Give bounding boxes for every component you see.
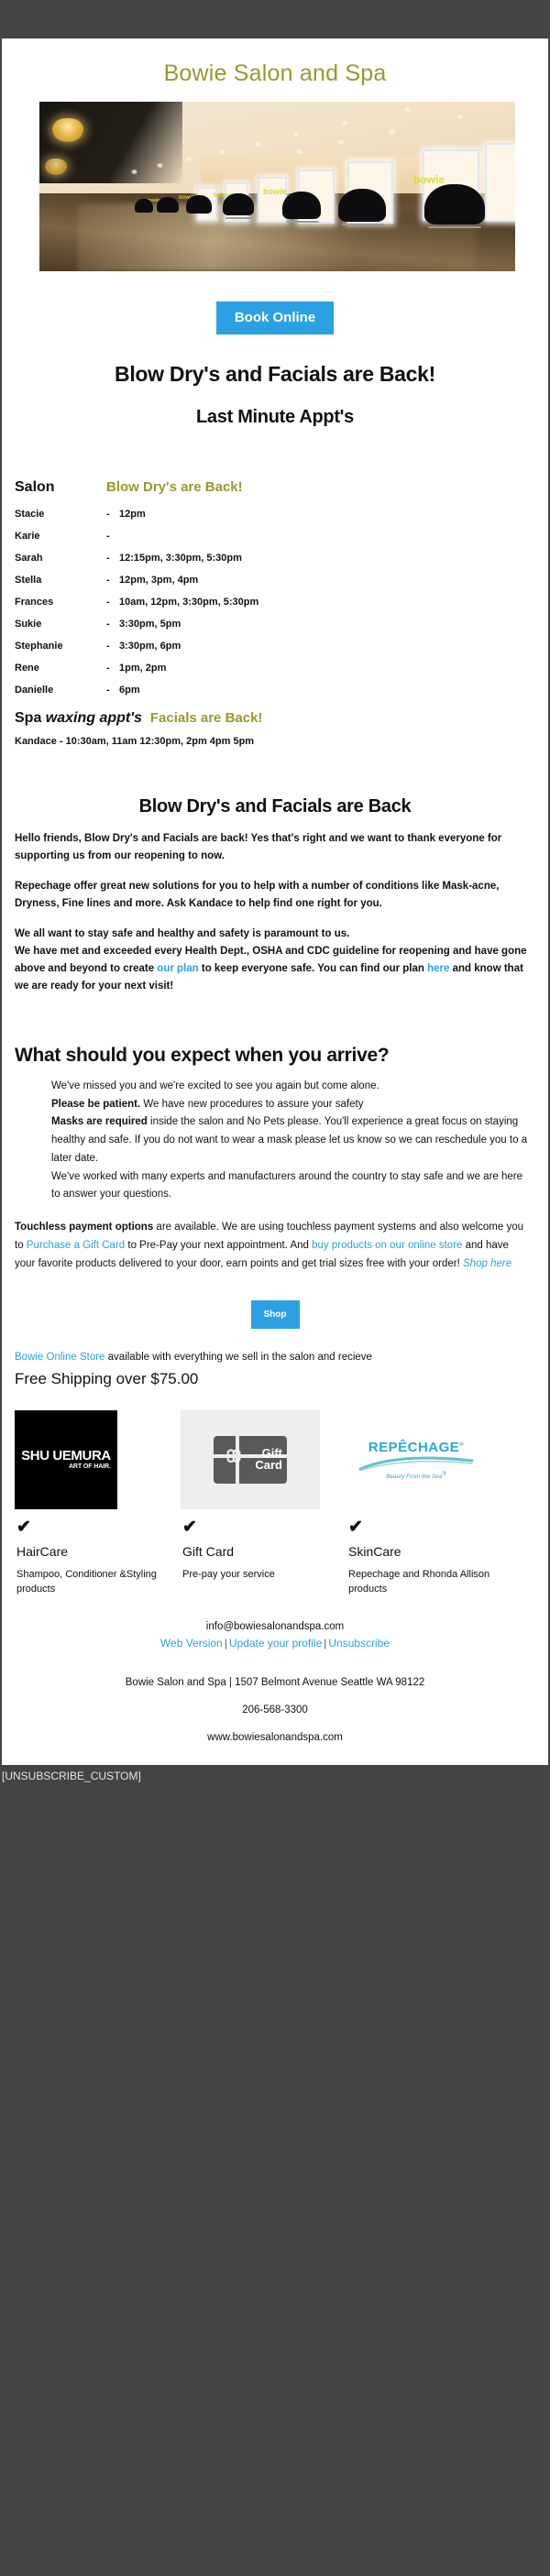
business-address: Bowie Salon and Spa | 1507 Belmont Avenu… <box>11 1650 539 1688</box>
table-row: Stephanie - 3:30pm, 6pm <box>15 641 548 663</box>
page-title: Bowie Salon and Spa <box>2 38 548 102</box>
stylist-name: Stephanie <box>15 641 106 652</box>
row-dash: - <box>106 663 119 674</box>
column-skincare: REPÊCHAGE® Beauty From the Sea® ✔ SkinCa… <box>346 1410 512 1597</box>
ceiling-light <box>296 149 302 154</box>
heading-blow-dry-facials: Blow Dry's and Facials are Back! <box>2 334 548 387</box>
appointments-header-row: Salon Blow Dry's are Back! <box>15 479 548 509</box>
facials-highlight: Facials are Back! <box>150 710 263 726</box>
row-dash: - <box>106 685 119 696</box>
stylist-name: Stacie <box>15 509 106 520</box>
column-title: HairCare <box>15 1536 181 1559</box>
blow-dry-highlight: Blow Dry's are Back! <box>106 479 243 495</box>
salon-chair <box>186 195 212 214</box>
touchless-payment-paragraph: Touchless payment options are available.… <box>2 1204 548 1273</box>
stylist-name: Danielle <box>15 685 106 696</box>
wave-icon <box>358 1456 474 1471</box>
row-dash: - <box>106 509 119 520</box>
table-row: Sukie - 3:30pm, 5pm <box>15 619 548 641</box>
table-row: Rene - 1pm, 2pm <box>15 663 548 685</box>
our-plan-link[interactable]: our plan <box>157 963 198 974</box>
web-version-link[interactable]: Web Version <box>160 1637 223 1650</box>
registered-mark: ® <box>443 1472 446 1477</box>
paragraph-hello: Hello friends, Blow Dry's and Facials ar… <box>15 830 532 865</box>
gift-card-icon: Gift Card <box>181 1410 320 1509</box>
table-row: Frances - 10am, 12pm, 3:30pm, 5:30pm <box>15 597 548 619</box>
email-sheet: Bowie Salon and Spa <box>2 38 548 1765</box>
repechage-wordmark: REPÊCHAGE <box>368 1440 460 1455</box>
column-haircare: SHU UEMURA ART OF HAIR. ✔ HairCare Shamp… <box>15 1410 181 1597</box>
heading-what-to-expect: What should you expect when you arrive? <box>2 1008 548 1067</box>
ceiling-light <box>186 157 192 161</box>
safety-line-3: to keep everyone safe. You can find our … <box>199 963 427 974</box>
free-shipping-text: Free Shipping over $75.00 <box>2 1366 548 1390</box>
chair-base <box>286 221 319 223</box>
footer-links: Web Version|Update your profile|Unsubscr… <box>11 1632 539 1650</box>
ceiling-light <box>389 129 395 134</box>
stylist-times: 6pm <box>119 685 140 696</box>
email-footer: info@bowiesalonandspa.com Web Version|Up… <box>2 1597 548 1765</box>
business-phone: 206-568-3300 <box>11 1688 539 1716</box>
salon-label: Salon <box>15 479 106 496</box>
arrival-instructions: We've missed you and we're excited to se… <box>2 1067 548 1204</box>
touchless-bold: Touchless payment options <box>15 1222 153 1233</box>
shu-uemura-logo: SHU UEMURA ART OF HAIR. <box>15 1410 117 1509</box>
stylist-times: 12pm, 3pm, 4pm <box>119 575 198 586</box>
row-dash: - <box>106 575 119 586</box>
salon-chair <box>282 192 321 219</box>
row-dash: - <box>106 597 119 608</box>
heading-blow-dry-facials-2: Blow Dry's and Facials are Back <box>2 747 548 817</box>
here-link[interactable]: here <box>427 963 449 974</box>
book-online-button[interactable]: Book Online <box>216 301 334 334</box>
salon-chair <box>338 189 386 222</box>
chandelier-icon <box>45 159 67 175</box>
row-dash: - <box>106 553 119 564</box>
update-profile-link[interactable]: Update your profile <box>229 1637 322 1650</box>
stylist-name: Stella <box>15 575 106 586</box>
registered-mark: ® <box>459 1442 464 1448</box>
table-row: Stacie - 12pm <box>15 509 548 531</box>
buy-products-link[interactable]: buy products on our online store <box>312 1240 462 1251</box>
masks-required-bold: Masks are required <box>51 1116 148 1127</box>
body-copy-bold: Hello friends, Blow Dry's and Facials ar… <box>2 817 548 995</box>
shop-here-link[interactable]: Shop here <box>463 1258 511 1269</box>
column-description: Pre-pay your service <box>181 1559 346 1583</box>
stylist-name: Rene <box>15 663 106 674</box>
ceiling-light <box>456 115 463 119</box>
gift-card-line1: Gift <box>255 1447 282 1459</box>
ceiling-light <box>157 163 163 168</box>
chair-base <box>428 226 481 228</box>
appointments-table: Salon Blow Dry's are Back! Stacie - 12pm… <box>2 428 548 707</box>
salon-chair <box>223 193 254 215</box>
stylist-times: 12:15pm, 3:30pm, 5:30pm <box>119 553 242 564</box>
ceiling-light <box>219 149 225 154</box>
check-icon: ✔ <box>15 1509 181 1536</box>
check-icon: ✔ <box>181 1509 346 1536</box>
spa-label-italic: waxing appt's <box>46 710 142 726</box>
arrival-line-1: We've missed you and we're excited to se… <box>51 1080 379 1091</box>
ceiling-light <box>404 107 411 112</box>
top-bar <box>0 0 550 38</box>
contact-email: info@bowiesalonandspa.com <box>11 1621 539 1632</box>
arrival-line-2: We have new procedures to assure your sa… <box>140 1099 363 1110</box>
table-row: Stella - 12pm, 3pm, 4pm <box>15 575 548 597</box>
bowie-online-store-link[interactable]: Bowie Online Store <box>15 1352 104 1363</box>
book-online-row: Book Online <box>2 271 548 334</box>
repechage-logo: REPÊCHAGE® Beauty From the Sea® <box>346 1410 486 1509</box>
heading-last-minute-appts: Last Minute Appt's <box>2 387 548 428</box>
stylist-times: 10am, 12pm, 3:30pm, 5:30pm <box>119 597 258 608</box>
column-description: Repechage and Rhonda Allison products <box>346 1559 512 1597</box>
link-separator: | <box>223 1637 229 1650</box>
business-website: www.bowiesalonandspa.com <box>11 1716 539 1765</box>
row-dash: - <box>106 619 119 630</box>
unsubscribe-token: [UNSUBSCRIBE_CUSTOM] <box>0 1765 550 1837</box>
chandelier-icon <box>52 118 83 142</box>
online-store-text: available with everything we sell in the… <box>104 1352 372 1363</box>
shop-button[interactable]: Shop <box>251 1300 300 1329</box>
table-row: Karie - <box>15 531 548 553</box>
repechage-tagline: Beauty From the Sea <box>386 1474 442 1480</box>
chair-base <box>342 224 384 225</box>
stylist-name: Karie <box>15 531 106 542</box>
arrival-line-4: We've worked with many experts and manuf… <box>51 1171 522 1200</box>
ceiling-light <box>131 170 137 174</box>
column-title: Gift Card <box>181 1536 346 1559</box>
salon-chair <box>157 197 179 213</box>
shu-uemura-wordmark: SHU UEMURA <box>21 1449 111 1463</box>
stylist-name: Sukie <box>15 619 106 630</box>
spa-section-heading: Spa waxing appt's Facials are Back! <box>2 707 548 736</box>
gift-card-line2: Card <box>255 1459 282 1471</box>
online-store-line: Bowie Online Store available with everyt… <box>2 1329 548 1365</box>
ceiling-light <box>255 142 261 147</box>
email-page: Bowie Salon and Spa <box>0 0 550 1837</box>
salon-chair <box>135 199 153 213</box>
spa-appointment-row: Kandace - 10:30am, 11am 12:30pm, 2pm 4pm… <box>2 736 548 747</box>
stylist-name: Frances <box>15 597 106 608</box>
stylist-times: 3:30pm, 5pm <box>119 619 181 630</box>
paragraph-safety: We all want to stay safe and healthy and… <box>15 926 532 995</box>
please-be-patient-bold: Please be patient. <box>51 1099 140 1110</box>
stylist-name: Sarah <box>15 553 106 564</box>
stylist-times: 12pm <box>119 509 146 520</box>
safety-line-1: We all want to stay safe and healthy and… <box>15 928 349 939</box>
salon-chair <box>424 184 485 225</box>
unsubscribe-link[interactable]: Unsubscribe <box>328 1637 390 1650</box>
stylist-times: 3:30pm, 6pm <box>119 641 181 652</box>
purchase-gift-card-link[interactable]: Purchase a Gift Card <box>27 1240 125 1251</box>
check-icon: ✔ <box>346 1509 512 1536</box>
bowie-mirror-logo: bowie <box>263 187 287 196</box>
bowie-mirror-logo: bowie <box>413 173 445 186</box>
column-title: SkinCare <box>346 1536 512 1559</box>
table-row: Danielle - 6pm <box>15 685 548 707</box>
row-dash: - <box>106 641 119 652</box>
column-description: Shampoo, Conditioner &Styling products <box>15 1559 181 1597</box>
shu-uemura-tagline: ART OF HAIR. <box>21 1463 111 1470</box>
styling-mirror <box>485 143 515 222</box>
stylist-times: 1pm, 2pm <box>119 663 166 674</box>
touchless-text-2: to Pre-Pay your next appointment. And <box>125 1240 312 1251</box>
ceiling-light <box>292 132 299 137</box>
ceiling-light <box>342 121 348 126</box>
column-giftcard: Gift Card ✔ Gift Card Pre-pay your servi… <box>181 1410 346 1597</box>
row-dash: - <box>106 531 119 542</box>
salon-interior-image: bowie bowie bowie bowie bowie <box>39 102 515 271</box>
paragraph-repechage: Repechage offer great new solutions for … <box>15 878 532 913</box>
bow-icon <box>225 1448 242 1464</box>
hero-image-wrap: bowie bowie bowie bowie bowie <box>2 102 548 271</box>
table-row: Sarah - 12:15pm, 3:30pm, 5:30pm <box>15 553 548 575</box>
spa-label: Spa <box>15 710 46 726</box>
ceiling-light <box>338 140 345 145</box>
shop-button-row: Shop <box>2 1273 548 1329</box>
chair-base <box>225 217 253 219</box>
product-columns: SHU UEMURA ART OF HAIR. ✔ HairCare Shamp… <box>2 1390 548 1597</box>
